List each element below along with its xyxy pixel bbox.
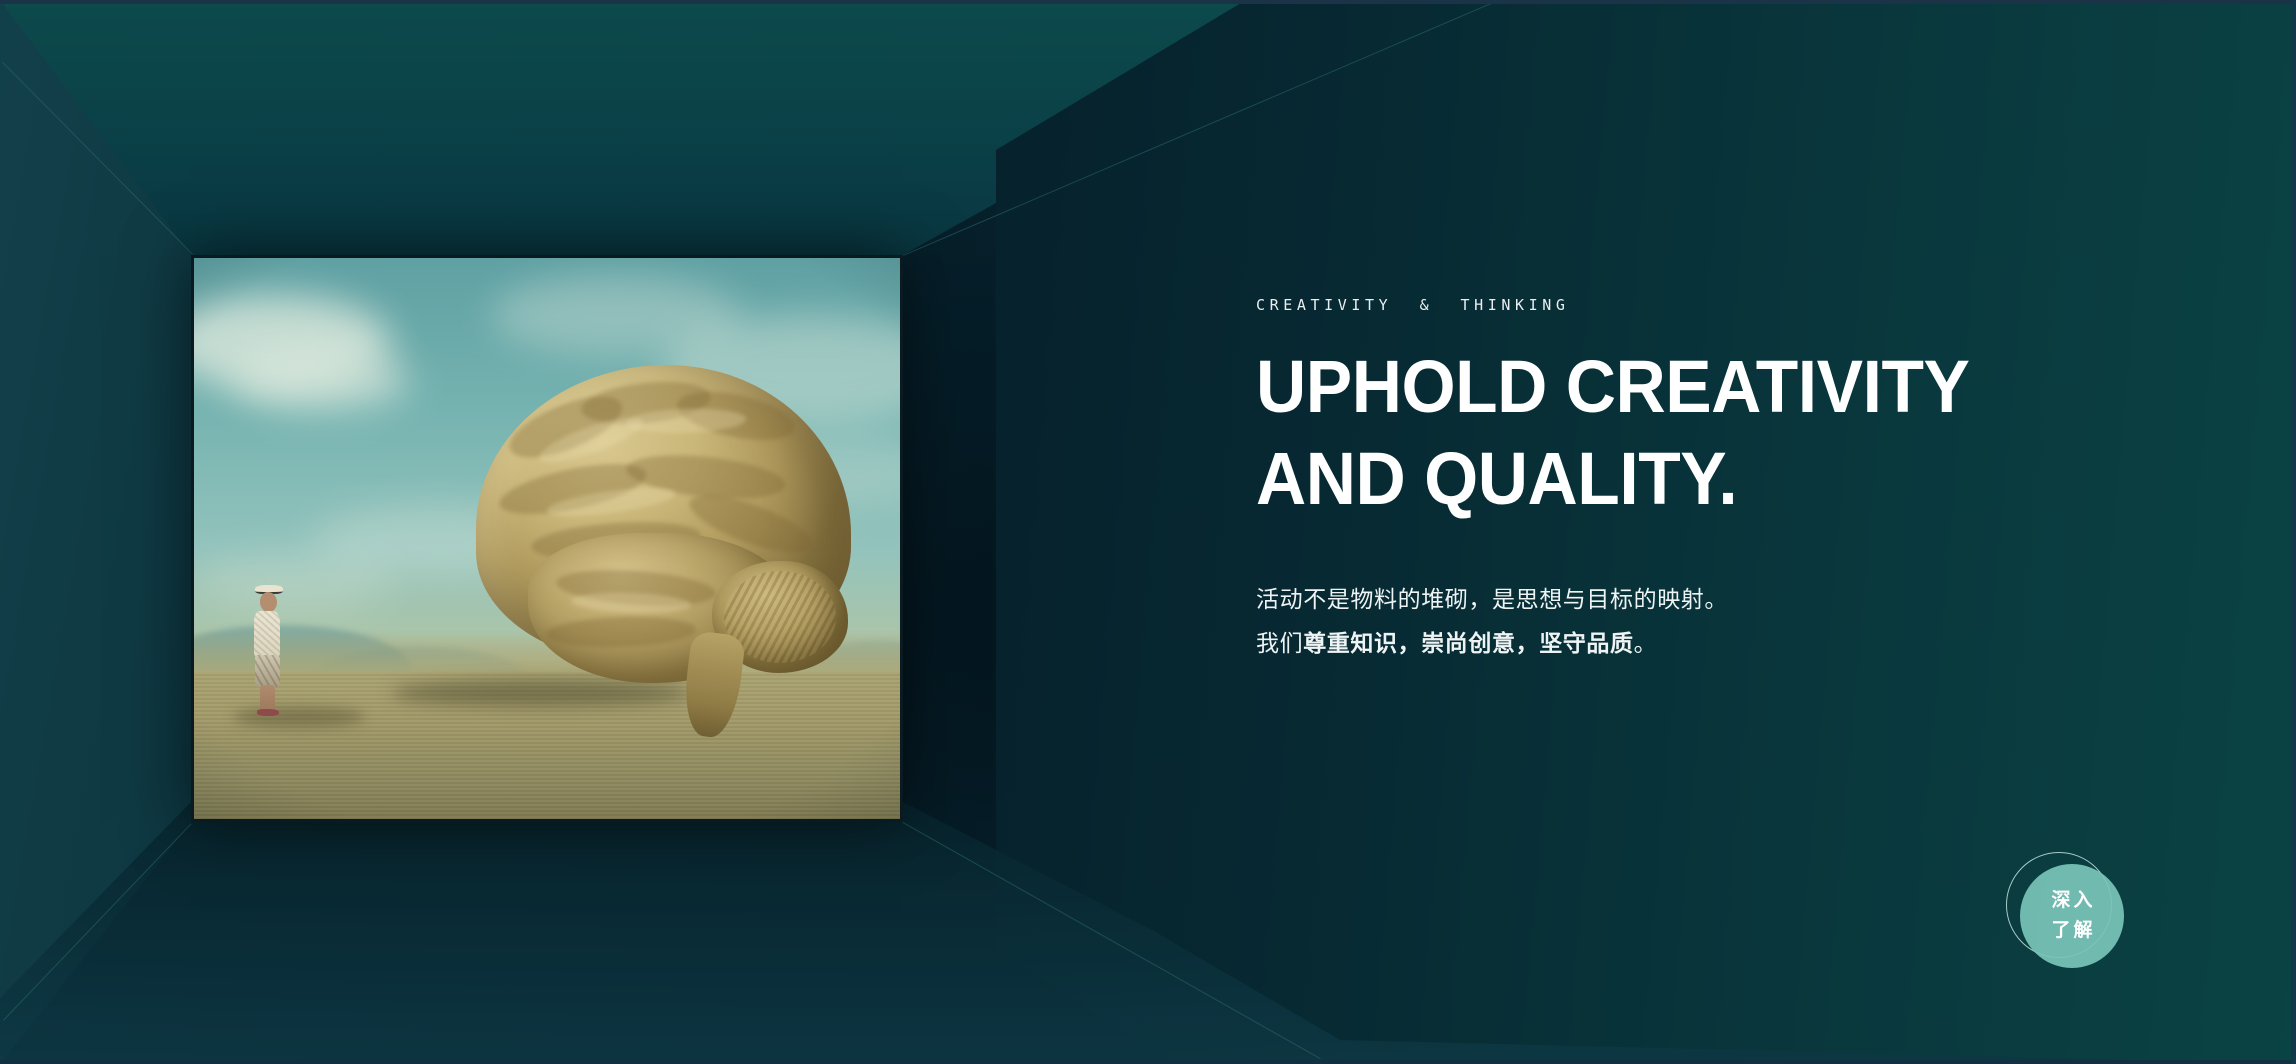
artwork-frame	[191, 255, 903, 822]
cta-label-line-1: 深入	[2048, 886, 2095, 916]
hero-stage: CREATIVITY & THINKING UPHOLD CREATIVITY …	[0, 0, 2296, 1064]
headline-line-1: UPHOLD CREATIVITY	[1256, 341, 2102, 433]
description-line-1: 活动不是物料的堆砌，是思想与目标的映射。	[1256, 577, 2156, 621]
description-line-2: 我们尊重知识，崇尚创意，坚守品质。	[1256, 621, 2156, 665]
learn-more-button[interactable]: 深入 了解	[2006, 852, 2146, 992]
hero-eyebrow: CREATIVITY & THINKING	[1256, 296, 2156, 314]
description-emphasis: 尊重知识，崇尚创意，坚守品质	[1303, 630, 1633, 656]
headline-line-2: AND QUALITY.	[1256, 433, 2102, 525]
cta-label-line-2: 了解	[2048, 916, 2095, 946]
hero-content: CREATIVITY & THINKING UPHOLD CREATIVITY …	[1256, 296, 2156, 665]
description-prefix: 我们	[1256, 630, 1303, 656]
page-title: UPHOLD CREATIVITY AND QUALITY.	[1256, 341, 2102, 525]
hero-description: 活动不是物料的堆砌，是思想与目标的映射。 我们尊重知识，崇尚创意，坚守品质。	[1256, 577, 2156, 665]
cta-label: 深入 了解	[2020, 864, 2124, 968]
description-suffix: 。	[1634, 630, 1658, 656]
artwork-border	[191, 255, 903, 822]
